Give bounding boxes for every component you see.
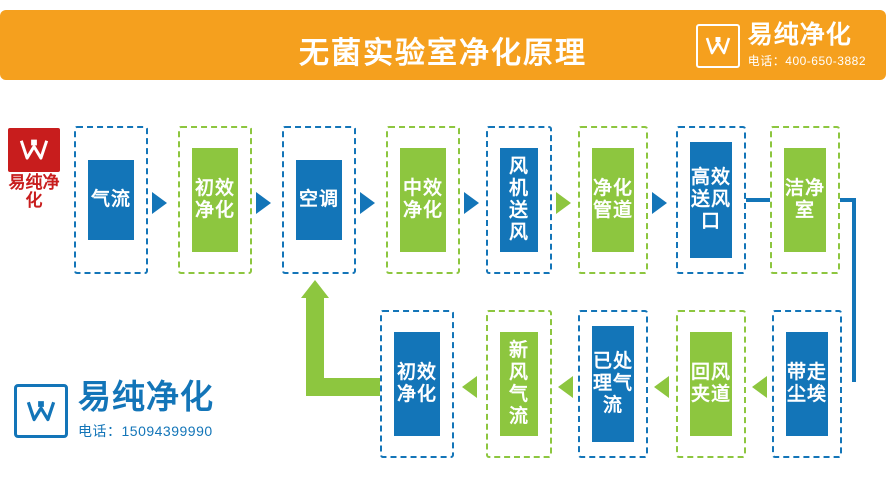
node-chuxiao-jinghua-1: 初效净化 (192, 148, 238, 252)
connector-gaoxiao-jiejingshi (746, 198, 770, 202)
node-gaoxiao-songfengkou: 高效送风口 (690, 142, 732, 258)
header-brand-name: 易纯净化 (748, 22, 866, 48)
node-xinfeng-qiliu: 新风气流 (500, 332, 538, 436)
footer-brand-phone: 电话：15094399990 (78, 421, 214, 441)
footer-brand-name: 易纯净化 (78, 380, 214, 415)
node-jiejingshi: 洁净室 (784, 148, 826, 252)
w-logo-icon (14, 384, 68, 438)
node-daizou-chenai: 带走尘埃 (786, 332, 828, 436)
header-brand-phone: 电话：400-650-3882 (748, 52, 866, 69)
arrow-6-icon (652, 192, 667, 214)
arrow-7-icon (462, 376, 477, 398)
node-zhongxiao-jinghua: 中效净化 (400, 148, 446, 252)
header-brand: 易纯净化 电话：400-650-3882 (696, 22, 866, 69)
arrow-8-icon (558, 376, 573, 398)
footer-brand: 易纯净化 电话：15094399990 (14, 380, 214, 441)
w-logo-icon (696, 24, 740, 68)
arrow-3-icon (360, 192, 375, 214)
arrow-1-icon (152, 192, 167, 214)
connector-right-top (840, 198, 856, 202)
seal-text: 易纯净化 (8, 172, 60, 226)
arrow-5-icon (556, 192, 571, 214)
node-jinghua-guandao: 净化管道 (592, 148, 634, 252)
node-huifeng-jiadao: 回风夹道 (690, 332, 732, 436)
arrow-return-up-icon (301, 280, 329, 298)
connector-right-vertical (852, 198, 856, 382)
stamp-logo-icon (8, 128, 60, 172)
node-yichuli-qiliu: 已处理气流 (592, 326, 634, 442)
arrow-10-icon (752, 376, 767, 398)
company-seal: 易纯净化 (8, 128, 60, 226)
arrow-2-icon (256, 192, 271, 214)
return-path-vertical (306, 298, 324, 396)
node-kongtiao: 空调 (296, 160, 342, 240)
arrow-9-icon (654, 376, 669, 398)
node-chuxiao-jinghua-2: 初效净化 (394, 332, 440, 436)
arrow-4-icon (464, 192, 479, 214)
node-qiliu: 气流 (88, 160, 134, 240)
node-fengji-songfeng: 风机送风 (500, 148, 538, 252)
header-banner: 无菌实验室净化原理 易纯净化 电话：400-650-3882 (0, 10, 886, 80)
